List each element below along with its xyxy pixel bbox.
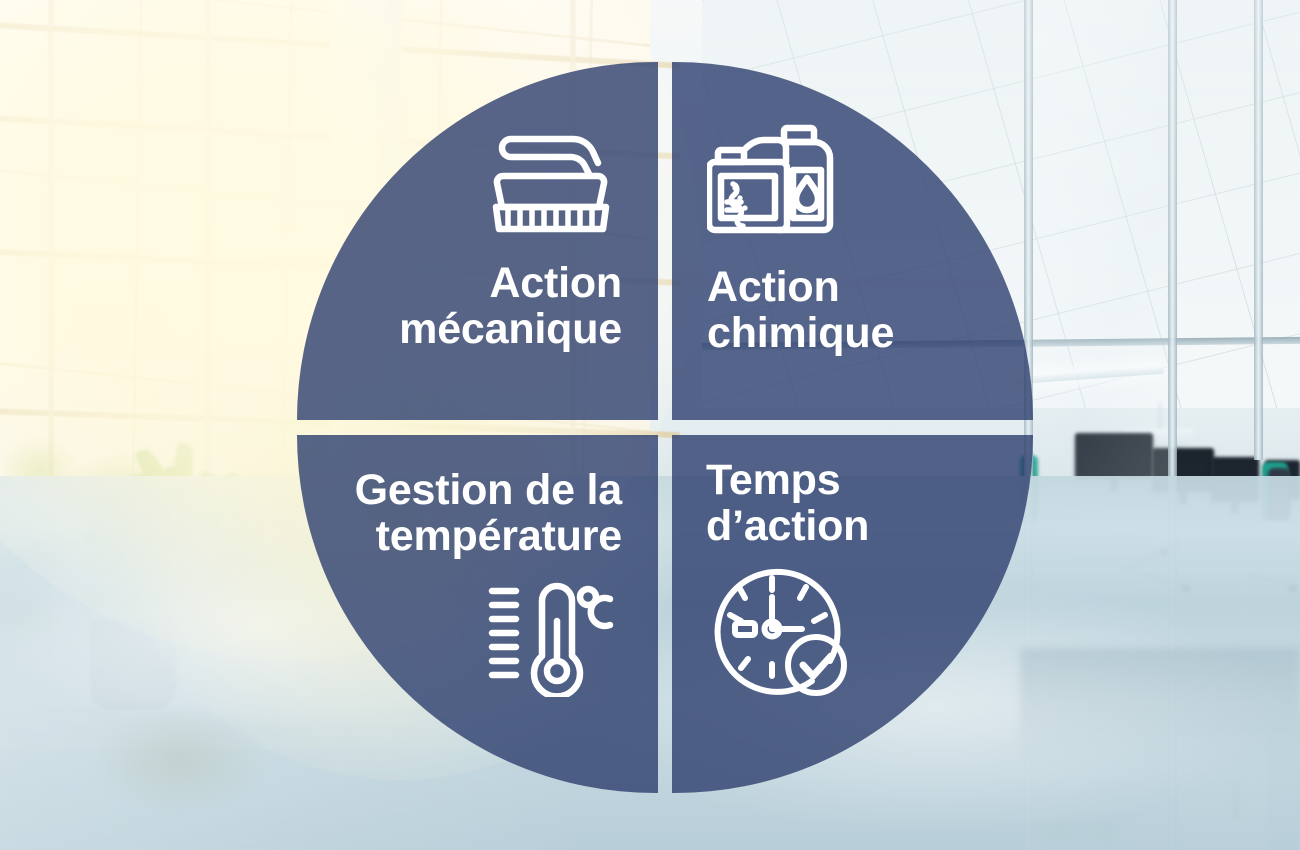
thermometer-celsius-icon (484, 579, 616, 697)
quadrant-label-action-mecanique: Action mécanique (399, 260, 622, 352)
floor-reflection-desks (1020, 648, 1300, 768)
quadrant-action-chimique[interactable]: Action chimique (672, 62, 1033, 420)
quadrant-gestion-temperature[interactable]: Gestion de la température (297, 435, 658, 793)
scrub-brush-icon (480, 124, 622, 236)
chemical-bottles-icon (707, 110, 837, 242)
clock-check-icon (708, 563, 856, 703)
quadrant-action-mecanique[interactable]: Action mécanique (297, 62, 658, 420)
glass-partition-frame (1254, 0, 1263, 460)
quadrant-label-gestion-temperature: Gestion de la température (355, 467, 622, 559)
quadrant-temps-action[interactable]: Temps d’action (672, 435, 1033, 793)
quadrant-label-temps-action: Temps d’action (706, 457, 869, 549)
quadrant-label-action-chimique: Action chimique (707, 264, 894, 356)
four-factor-wheel: Action mécanique (297, 62, 1033, 793)
infographic-stage: Action mécanique (0, 0, 1300, 850)
